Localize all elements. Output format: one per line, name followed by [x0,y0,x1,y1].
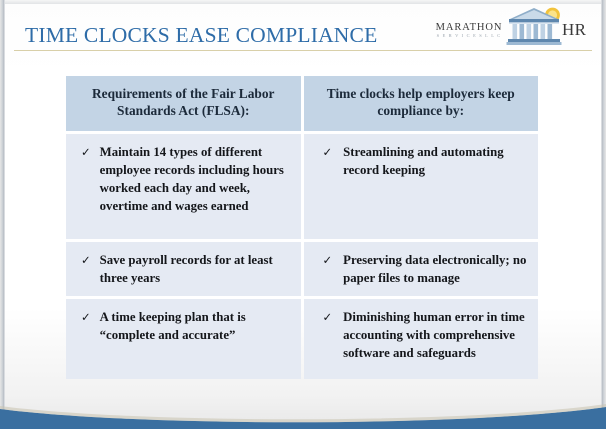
check-icon: ✓ [323,308,333,325]
table-header-label-left: Requirements of the Fair Labor Standards… [80,85,287,120]
page-title: TIME CLOCKS EASE COMPLIANCE [25,23,377,48]
bullet-item: ✓ A time keeping plan that is “complete … [75,308,290,344]
bullet-text: Maintain 14 types of different employee … [100,143,290,216]
footer-decorative-band [0,393,606,429]
bullet-text: Streamlining and automating record keepi… [343,143,527,179]
slide-left-edge [0,0,5,429]
table-header-row: Requirements of the Fair Labor Standards… [66,76,538,131]
table-row: ✓ A time keeping plan that is “complete … [66,299,538,379]
check-icon: ✓ [81,251,91,268]
bullet-text: Diminishing human error in time accounti… [343,308,527,362]
check-icon: ✓ [323,251,333,268]
table-cell-right-1: ✓ Streamlining and automating record kee… [304,134,539,239]
bullet-item: ✓ Maintain 14 types of different employe… [75,143,290,216]
table-cell-right-3: ✓ Diminishing human error in time accoun… [304,299,539,379]
table-header-label-right: Time clocks help employers keep complian… [318,85,525,120]
table-cell-left-1: ✓ Maintain 14 types of different employe… [66,134,301,239]
slide-canvas: TIME CLOCKS EASE COMPLIANCE MARATHON S E… [0,0,606,429]
table-row: ✓ Maintain 14 types of different employe… [66,134,538,239]
logo-wordmark: MARATHON [426,22,512,33]
table-cell-left-3: ✓ A time keeping plan that is “complete … [66,299,301,379]
bullet-item: ✓ Save payroll records for at least thre… [75,251,290,287]
bullet-text: Preserving data electronically; no paper… [343,251,527,287]
bullet-item: ✓ Diminishing human error in time accoun… [313,308,528,362]
bullet-item: ✓ Streamlining and automating record kee… [313,143,528,179]
bullet-text: A time keeping plan that is “complete an… [100,308,290,344]
check-icon: ✓ [81,143,91,160]
bullet-text: Save payroll records for at least three … [100,251,290,287]
bullet-item: ✓ Preserving data electronically; no pap… [313,251,528,287]
check-icon: ✓ [81,308,91,325]
compliance-table: Requirements of the Fair Labor Standards… [66,76,538,379]
table-header-cell-right: Time clocks help employers keep complian… [304,76,539,131]
title-divider-rule [14,50,592,51]
marathon-hr-logo: MARATHON S E R V I C E S L L C [426,4,594,48]
logo-subtext: S E R V I C E S L L C [426,33,512,38]
table-cell-right-2: ✓ Preserving data electronically; no pap… [304,242,539,296]
logo-hr-text: HR [562,20,586,40]
classical-building-icon [506,6,564,46]
table-row: ✓ Save payroll records for at least thre… [66,242,538,296]
table-header-cell-left: Requirements of the Fair Labor Standards… [66,76,301,131]
slide-right-edge [601,0,606,429]
check-icon: ✓ [323,143,333,160]
table-cell-left-2: ✓ Save payroll records for at least thre… [66,242,301,296]
